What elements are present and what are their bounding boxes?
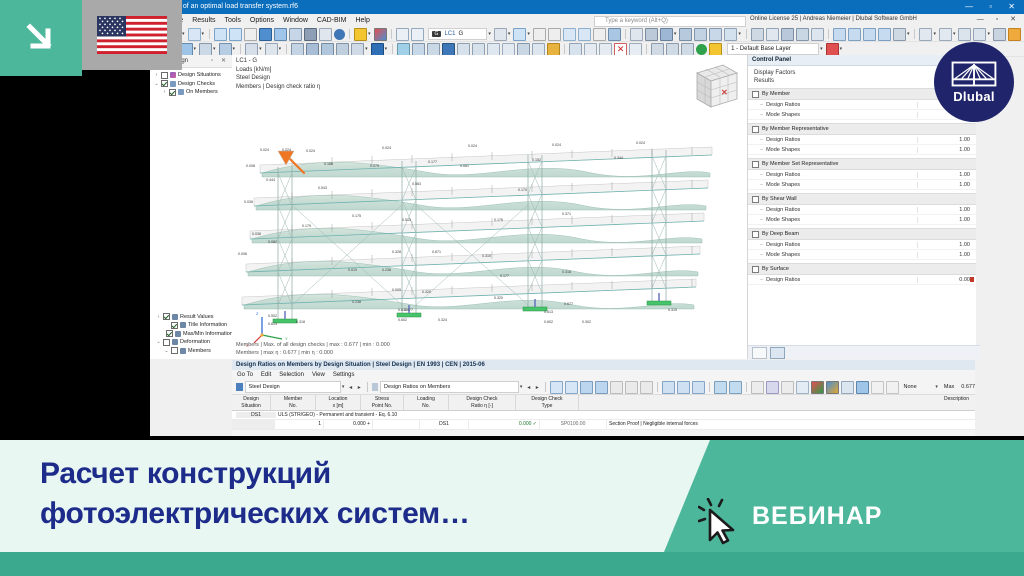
checkbox[interactable] bbox=[752, 196, 759, 203]
search-table-icon[interactable] bbox=[766, 381, 779, 394]
rfem-application-window: ...nation of an optimal load transfer sy… bbox=[150, 0, 1024, 436]
col-line1: Design Check bbox=[466, 396, 497, 402]
loadcase-icon[interactable] bbox=[709, 28, 722, 41]
svg-text:0.318: 0.318 bbox=[296, 320, 305, 324]
grid-header-row: Design Situation Member No. Location x [… bbox=[232, 395, 975, 411]
find-icon[interactable] bbox=[781, 381, 794, 394]
col-design-check-type[interactable]: Design Check Type bbox=[516, 395, 579, 410]
refresh-icon[interactable] bbox=[334, 29, 345, 40]
toolbar-separator bbox=[545, 382, 546, 392]
cp-group-by-shear-wall[interactable]: By Shear Wall bbox=[748, 193, 976, 205]
home-view-icon[interactable] bbox=[752, 347, 767, 359]
checkbox[interactable] bbox=[752, 91, 759, 98]
tree-item-label: Title Information bbox=[188, 322, 227, 328]
resultvalues-icon[interactable] bbox=[878, 28, 891, 41]
cp-row-label: –Mode Shapes bbox=[760, 147, 917, 153]
cp-row-value[interactable]: 0.00 bbox=[917, 277, 976, 283]
rigid-link-icon[interactable] bbox=[351, 43, 364, 56]
layer-flag-icon[interactable] bbox=[826, 43, 839, 56]
cp-row-mode-shapes[interactable]: –Mode Shapes 1.00 bbox=[748, 180, 976, 190]
rotate-object-icon[interactable] bbox=[599, 43, 612, 56]
base-layer-value: 1 - Default Base Layer bbox=[731, 46, 791, 52]
compare-icon[interactable] bbox=[841, 381, 854, 394]
checkbox[interactable] bbox=[171, 322, 178, 329]
svg-text:0.318: 0.318 bbox=[562, 270, 571, 274]
col-stress-point[interactable]: Stress Point No. bbox=[361, 395, 404, 410]
cell-location[interactable]: 0.000 + bbox=[324, 420, 373, 429]
module-chevron-down-icon[interactable]: ▾ bbox=[342, 384, 345, 390]
measure-icon[interactable] bbox=[593, 28, 606, 41]
clipboard-icon[interactable] bbox=[319, 28, 332, 41]
zoom-dropdown-icon[interactable]: ▾ bbox=[953, 31, 956, 37]
cp-row-value[interactable]: 1.00 bbox=[917, 172, 976, 178]
menu-item-results[interactable]: Results bbox=[192, 17, 215, 24]
svg-text:0.152: 0.152 bbox=[532, 158, 541, 162]
panel-split-icon[interactable] bbox=[244, 28, 257, 41]
result-prev-icon[interactable]: ◂ bbox=[525, 384, 532, 391]
member-icon[interactable] bbox=[645, 28, 658, 41]
checkbox[interactable] bbox=[752, 266, 759, 273]
load-case-prev-icon[interactable] bbox=[396, 28, 409, 41]
redo-dropdown-icon[interactable]: ▾ bbox=[202, 31, 205, 37]
col-line1: Member bbox=[284, 396, 302, 402]
filter-active-icon[interactable] bbox=[856, 381, 869, 394]
toolbar-separator bbox=[828, 29, 829, 39]
table-menu-goto[interactable]: Go To bbox=[237, 372, 253, 378]
menu-item-options[interactable]: Options bbox=[250, 17, 274, 24]
col-line1: Design bbox=[243, 396, 259, 402]
cp-group-by-member-representative[interactable]: By Member Representative bbox=[748, 123, 976, 135]
cp-row-label: –Design Ratios bbox=[760, 137, 917, 143]
free-load-icon[interactable] bbox=[457, 43, 470, 56]
cp-row-value[interactable]: 1.00 bbox=[917, 137, 976, 143]
cp-row-label: –Design Ratios bbox=[760, 102, 917, 108]
load-case-chevron-down-icon[interactable]: ▾ bbox=[488, 31, 491, 37]
3d-viewport[interactable]: LC1 - G Loads [kN/m] Steel Design Member… bbox=[232, 55, 747, 359]
tree-item-maxmin-information[interactable]: Max/Min Information bbox=[154, 330, 232, 339]
cp-group-label: By Member Representative bbox=[762, 126, 829, 132]
cp-row-value[interactable]: 1.00 bbox=[917, 182, 976, 188]
cp-row-mode-shapes[interactable]: –Mode Shapes 1.00 bbox=[748, 215, 976, 225]
attachment-icon[interactable] bbox=[304, 28, 317, 41]
svg-text:0.613: 0.613 bbox=[544, 310, 553, 314]
spinner-marker-icon[interactable] bbox=[970, 277, 974, 282]
cp-row-design-ratios[interactable]: –Design Ratios 1.00 bbox=[748, 205, 976, 215]
menu-item-help[interactable]: Help bbox=[355, 17, 369, 24]
surface-load-icon[interactable] bbox=[442, 43, 455, 56]
cp-row-mode-shapes[interactable]: –Mode Shapes 1.00 bbox=[748, 110, 976, 120]
menu-item-cadbim[interactable]: CAD-BIM bbox=[317, 17, 347, 24]
render-icon[interactable] bbox=[354, 28, 367, 41]
svg-text:0.024: 0.024 bbox=[382, 146, 391, 150]
snap-icon[interactable] bbox=[563, 28, 576, 41]
cp-row-value[interactable]: 1.00 bbox=[917, 217, 976, 223]
paint-icon[interactable] bbox=[893, 28, 906, 41]
new-surface-icon[interactable] bbox=[219, 43, 232, 56]
new-solid-icon[interactable] bbox=[245, 43, 258, 56]
cp-row-value[interactable]: 1.00 bbox=[917, 242, 976, 248]
report-icon[interactable] bbox=[796, 28, 809, 41]
checkbox[interactable] bbox=[163, 313, 170, 320]
printout-report3-icon[interactable] bbox=[681, 43, 694, 56]
cp-group-label: By Member bbox=[762, 91, 790, 97]
navigation-cube-icon[interactable]: ✕ bbox=[687, 59, 741, 115]
tree-item-result-values[interactable]: › Result Values bbox=[154, 313, 232, 322]
combination-icon[interactable] bbox=[724, 28, 737, 41]
rotate-icon[interactable] bbox=[958, 28, 971, 41]
cp-row-text: Mode Shapes bbox=[766, 182, 800, 188]
bounding-box-icon[interactable] bbox=[629, 43, 642, 56]
cell-design-check-type[interactable]: SP0100.00 bbox=[540, 420, 607, 429]
svg-text:0.036: 0.036 bbox=[244, 200, 253, 204]
export-icon[interactable] bbox=[811, 28, 824, 41]
export-table-icon[interactable] bbox=[662, 381, 675, 394]
perspective-dropdown-icon[interactable]: ▾ bbox=[987, 31, 990, 37]
solid-icon[interactable] bbox=[694, 28, 707, 41]
module-prev-icon[interactable]: ◂ bbox=[347, 384, 354, 391]
table-menu-selection[interactable]: Selection bbox=[279, 372, 304, 378]
member-load-icon[interactable] bbox=[427, 43, 440, 56]
col-line1: Description bbox=[944, 396, 969, 402]
cp-group-by-surface[interactable]: By Surface bbox=[748, 263, 976, 275]
toolbar-separator bbox=[914, 29, 915, 39]
tree-item-on-members[interactable]: › On Members bbox=[152, 88, 232, 97]
panel-grid-icon[interactable] bbox=[229, 28, 242, 41]
chart2-table-icon[interactable] bbox=[692, 381, 705, 394]
wind-load-icon[interactable] bbox=[502, 43, 515, 56]
chart-table-icon[interactable] bbox=[677, 381, 690, 394]
paint-dropdown-icon[interactable]: ▾ bbox=[907, 31, 910, 37]
group-text: ULS (STR/GEO) - Permanent and transient … bbox=[278, 412, 397, 418]
checkbox[interactable] bbox=[752, 161, 759, 168]
sort-table-icon[interactable] bbox=[595, 381, 608, 394]
imperfection-icon[interactable] bbox=[472, 43, 485, 56]
cp-row-text: Design Ratios bbox=[766, 242, 800, 248]
tree-item-label: Result Values bbox=[180, 314, 214, 320]
toolbar-separator bbox=[392, 44, 393, 54]
col-loading-no[interactable]: Loading No. bbox=[404, 395, 449, 410]
lasso-icon[interactable] bbox=[548, 28, 561, 41]
toolbar-separator bbox=[746, 29, 747, 39]
cp-group-by-deep-beam[interactable]: By Deep Beam bbox=[748, 228, 976, 240]
tree-item-design-situations[interactable]: › Design Situations bbox=[152, 71, 232, 80]
resultdiagram-icon[interactable] bbox=[863, 28, 876, 41]
visibility-icon[interactable] bbox=[494, 28, 507, 41]
render-dropdown-icon[interactable]: ▾ bbox=[368, 31, 371, 37]
table-menu-edit[interactable]: Edit bbox=[261, 372, 271, 378]
table-menu-settings[interactable]: Settings bbox=[333, 372, 355, 378]
license-info: Online License 25 | Andreas Niemeier | D… bbox=[750, 16, 917, 22]
panel-left-icon[interactable] bbox=[214, 28, 227, 41]
load-case-chip: G bbox=[432, 31, 442, 37]
control-panel-footer bbox=[748, 345, 980, 359]
module-next-icon[interactable]: ▸ bbox=[356, 384, 363, 391]
menu-item-window[interactable]: Window bbox=[283, 17, 308, 24]
svg-text:0.324: 0.324 bbox=[438, 318, 447, 322]
cp-row-mode-shapes[interactable]: –Mode Shapes 1.00 bbox=[748, 250, 976, 260]
select-icon[interactable] bbox=[533, 28, 546, 41]
cp-row-text: Mode Shapes bbox=[766, 112, 800, 118]
result-type-chevron-down-icon[interactable]: ▾ bbox=[520, 384, 523, 390]
line-support-icon[interactable] bbox=[306, 43, 319, 56]
screenshot-root: ...nation of an optimal load transfer sy… bbox=[0, 0, 1024, 576]
checkbox[interactable] bbox=[161, 72, 168, 79]
svg-text:0.079: 0.079 bbox=[370, 164, 379, 168]
combination-wizard-icon[interactable] bbox=[517, 43, 530, 56]
copy-object-icon[interactable] bbox=[569, 43, 582, 56]
module-combo[interactable]: Steel Design bbox=[245, 381, 341, 393]
members-icon bbox=[180, 348, 186, 354]
cp-group-label: By Member Set Representative bbox=[762, 161, 838, 167]
col-design-situation[interactable]: Design Situation bbox=[232, 395, 271, 410]
mirror-icon[interactable] bbox=[584, 43, 597, 56]
results-icon[interactable] bbox=[781, 28, 794, 41]
svg-text:0.563: 0.563 bbox=[412, 182, 421, 186]
menu-bar: Calculate Results Tools Options Window C… bbox=[150, 14, 1024, 27]
col-line2: Type bbox=[542, 403, 553, 409]
toolbar-separator bbox=[564, 44, 565, 54]
combination-dropdown-icon[interactable]: ▾ bbox=[738, 31, 741, 37]
expander-icon[interactable]: ⌄ bbox=[164, 348, 169, 354]
cp-group-by-member-set-representative[interactable]: By Member Set Representative bbox=[748, 158, 976, 170]
svg-text:0.082: 0.082 bbox=[268, 240, 277, 244]
cp-row-design-ratios[interactable]: –Design Ratios 1.00 bbox=[748, 240, 976, 250]
cp-row-text: Mode Shapes bbox=[766, 217, 800, 223]
col-line2: No. bbox=[289, 403, 297, 409]
cp-row-text: Mode Shapes bbox=[766, 147, 800, 153]
table-row[interactable]: 1 0.000 + DS1 0.000 ✓ SP0100.00 Section … bbox=[232, 420, 975, 430]
tree-item-label: Design Checks bbox=[178, 81, 215, 87]
cell-ratio[interactable]: 0.000 ✓ bbox=[469, 420, 540, 429]
window-titlebar: ...nation of an optimal load transfer sy… bbox=[150, 0, 1024, 14]
stamp-icon[interactable] bbox=[547, 43, 560, 56]
group-design-situation: DS1 bbox=[236, 412, 276, 418]
svg-text:0.061: 0.061 bbox=[460, 164, 469, 168]
svg-text:0.344: 0.344 bbox=[614, 156, 623, 160]
delete-icon[interactable]: ✕ bbox=[614, 43, 627, 56]
base-layer-chevron-down-icon[interactable]: ▾ bbox=[820, 46, 823, 52]
redo-icon[interactable] bbox=[188, 28, 201, 41]
zoom-in-table-icon[interactable] bbox=[550, 381, 563, 394]
member-hinge-icon[interactable] bbox=[321, 43, 334, 56]
colors-icon[interactable] bbox=[374, 28, 387, 41]
col-line2: Point No. bbox=[372, 403, 393, 409]
snow-load-icon[interactable] bbox=[487, 43, 500, 56]
structure-model-graphic: 0.0240.0240.024 0.0240.0240.024 0.024 0.… bbox=[232, 55, 747, 359]
svg-text:0.310: 0.310 bbox=[482, 254, 491, 258]
table-merge-icon[interactable] bbox=[625, 381, 638, 394]
design-situation-icon bbox=[170, 72, 176, 78]
banner-title: Расчет конструкций фотоэлектрических сис… bbox=[40, 454, 470, 534]
cp-row-text: Design Ratios bbox=[766, 102, 800, 108]
cp-row-text: Design Ratios bbox=[766, 207, 800, 213]
svg-text:0.371: 0.371 bbox=[562, 212, 571, 216]
tree-item-design-checks[interactable]: ⌄ Design Checks bbox=[152, 80, 232, 89]
cp-row-design-ratios[interactable]: –Design Ratios 0.00 bbox=[748, 275, 976, 285]
new-opening-dropdown-icon[interactable]: ▾ bbox=[279, 46, 282, 52]
svg-text:Z: Z bbox=[256, 311, 259, 316]
lighting-icon[interactable] bbox=[993, 28, 1006, 41]
window-controls[interactable]: — ▫ ✕ bbox=[965, 0, 1022, 14]
new-member-icon[interactable] bbox=[199, 43, 212, 56]
printout-report-icon[interactable] bbox=[651, 43, 664, 56]
cp-row-value[interactable]: 1.00 bbox=[917, 147, 976, 153]
filter-table-icon[interactable] bbox=[580, 381, 593, 394]
nodal-release-icon[interactable] bbox=[371, 43, 384, 56]
cp-row-value[interactable]: 1.00 bbox=[917, 252, 976, 258]
layer-flag-dropdown-icon[interactable]: ▾ bbox=[840, 46, 843, 52]
col-location[interactable]: Location x [m] bbox=[316, 395, 361, 410]
expander-icon[interactable]: › bbox=[154, 72, 159, 78]
expander-icon[interactable]: › bbox=[156, 314, 161, 320]
cp-row-design-ratios[interactable]: –Design Ratios 1.00 bbox=[748, 170, 976, 180]
new-member-dropdown-icon[interactable]: ▾ bbox=[213, 46, 216, 52]
result-next-icon[interactable]: ▸ bbox=[534, 384, 541, 391]
cp-row-label: –Design Ratios bbox=[760, 172, 917, 178]
node-icon[interactable] bbox=[630, 28, 643, 41]
col-line1: Location bbox=[329, 396, 348, 402]
new-surface-dropdown-icon[interactable]: ▾ bbox=[233, 46, 236, 52]
navigator-tree-bottom: › Result Values Title Information Max/Mi… bbox=[152, 310, 232, 356]
col-design-check-ratio[interactable]: Design Check Ratio η [-] bbox=[449, 395, 516, 410]
zoom-out-table-icon[interactable] bbox=[565, 381, 578, 394]
filter-reset-icon[interactable] bbox=[886, 381, 899, 394]
search-input[interactable]: Type a keyword (Alt+Q) bbox=[594, 16, 746, 27]
surface-support-icon[interactable] bbox=[336, 43, 349, 56]
grid-group-row[interactable]: DS1 ULS (STR/GEO) - Permanent and transi… bbox=[232, 411, 975, 420]
svg-text:0.602: 0.602 bbox=[398, 318, 407, 322]
print-icon[interactable] bbox=[289, 28, 302, 41]
table-icon[interactable] bbox=[259, 28, 272, 41]
expander-icon[interactable]: ⌄ bbox=[154, 81, 159, 87]
toolbar-separator bbox=[349, 29, 350, 39]
support-icon[interactable] bbox=[679, 28, 692, 41]
cp-row-mode-shapes[interactable]: –Mode Shapes 1.00 bbox=[748, 145, 976, 155]
col-member-no[interactable]: Member No. bbox=[271, 395, 316, 410]
nodal-support-icon[interactable] bbox=[291, 43, 304, 56]
view-dropdown-icon[interactable]: ▾ bbox=[933, 31, 936, 37]
columns-icon[interactable] bbox=[833, 28, 846, 41]
filter-none-chevron-down-icon[interactable]: ▾ bbox=[935, 384, 938, 390]
cell-loading-no[interactable]: DS1 bbox=[420, 420, 469, 429]
tree-item-members[interactable]: ⌄ Members bbox=[154, 347, 232, 356]
color-legend2-icon[interactable] bbox=[826, 381, 839, 394]
panel-settings-icon[interactable] bbox=[770, 347, 785, 359]
surface-dropdown-icon[interactable]: ▾ bbox=[674, 31, 677, 37]
perspective-icon[interactable] bbox=[973, 28, 986, 41]
load-case-combo[interactable]: G LC1 G bbox=[428, 28, 488, 40]
zoom-icon[interactable] bbox=[939, 28, 952, 41]
view-icon[interactable] bbox=[919, 28, 932, 41]
load-case-next-icon[interactable] bbox=[411, 28, 424, 41]
result-type-combo[interactable]: Design Ratios on Members bbox=[380, 381, 519, 393]
svg-text:0.008: 0.008 bbox=[246, 164, 255, 168]
filter-clear-icon[interactable] bbox=[871, 381, 884, 394]
checkbox[interactable] bbox=[752, 231, 759, 238]
checkbox[interactable] bbox=[171, 347, 178, 354]
expander-icon[interactable]: ⌄ bbox=[156, 339, 161, 345]
sortaz-icon[interactable] bbox=[796, 381, 809, 394]
menu-item-tools[interactable]: Tools bbox=[225, 17, 241, 24]
checkbox[interactable] bbox=[166, 330, 173, 337]
table-view-icon[interactable] bbox=[610, 381, 623, 394]
nodal-release-dropdown-icon[interactable]: ▾ bbox=[385, 46, 388, 52]
calculate-icon[interactable] bbox=[751, 28, 764, 41]
nodal-load-icon[interactable] bbox=[397, 43, 410, 56]
new-solid-dropdown-icon[interactable]: ▾ bbox=[259, 46, 262, 52]
line-load-icon[interactable] bbox=[412, 43, 425, 56]
table-toolbar: Steel Design ▾ ◂ ▸ Design Ratios on Memb… bbox=[232, 380, 975, 395]
table-menu-view[interactable]: View bbox=[312, 372, 325, 378]
svg-text:0.177: 0.177 bbox=[428, 160, 437, 164]
dimension-icon[interactable] bbox=[608, 28, 621, 41]
layer-visible-icon[interactable] bbox=[696, 44, 707, 55]
checkbox[interactable] bbox=[163, 339, 170, 346]
cell-description[interactable]: Section Proof | Negligible internal forc… bbox=[607, 420, 975, 429]
filter-icon[interactable] bbox=[513, 28, 526, 41]
expander-icon[interactable]: › bbox=[162, 89, 167, 95]
cp-row-label: –Design Ratios bbox=[760, 277, 917, 283]
printout-report2-icon[interactable] bbox=[666, 43, 679, 56]
base-layer-combo[interactable]: 1 - Default Base Layer bbox=[727, 43, 819, 55]
cp-row-value[interactable]: 1.00 bbox=[917, 207, 976, 213]
svg-text:0.024: 0.024 bbox=[306, 149, 315, 153]
color-legend-icon[interactable] bbox=[811, 381, 824, 394]
col-description[interactable]: Description bbox=[579, 395, 975, 410]
printout-icon[interactable] bbox=[274, 28, 287, 41]
undo-dropdown-icon[interactable]: ▾ bbox=[182, 31, 185, 37]
banner-badge-text: ВЕБИНАР bbox=[752, 502, 882, 531]
filter-dropdown-icon[interactable]: ▾ bbox=[527, 31, 530, 37]
svg-text:0.302: 0.302 bbox=[582, 320, 591, 324]
grid-toggle-icon[interactable] bbox=[729, 381, 742, 394]
table-split-icon[interactable] bbox=[640, 381, 653, 394]
cp-row-text: Design Ratios bbox=[766, 172, 800, 178]
stop-calc-icon[interactable] bbox=[766, 28, 779, 41]
grid-snap-icon[interactable] bbox=[578, 28, 591, 41]
checkbox[interactable] bbox=[169, 89, 176, 96]
toolbar-row-1: ▾ ▾ ▾ G LC1 G ▾ ▾ ▾ bbox=[150, 27, 1024, 42]
click-cursor-icon bbox=[698, 498, 744, 546]
banner-title-line-1: Расчет конструкций bbox=[40, 454, 470, 494]
checkbox[interactable] bbox=[161, 80, 168, 87]
rows-icon[interactable] bbox=[848, 28, 861, 41]
tree-item-label: On Members bbox=[186, 89, 218, 95]
tree-item-deformation[interactable]: ⌄ Deformation bbox=[154, 338, 232, 347]
tree-item-title-information[interactable]: Title Information bbox=[154, 321, 232, 330]
svg-text:0.176: 0.176 bbox=[494, 218, 503, 222]
angle-icon[interactable] bbox=[532, 43, 545, 56]
layer-locked-icon[interactable] bbox=[709, 43, 722, 56]
highlight-icon[interactable] bbox=[714, 381, 727, 394]
new-opening-icon[interactable] bbox=[265, 43, 278, 56]
visibility-dropdown-icon[interactable]: ▾ bbox=[508, 31, 511, 37]
navigator-pin-close-icons[interactable]: ▫ ✕ bbox=[211, 55, 229, 67]
toolbar-separator bbox=[391, 29, 392, 39]
surface-icon[interactable] bbox=[660, 28, 673, 41]
filter-none-label[interactable]: None bbox=[901, 382, 935, 392]
rigid-link-dropdown-icon[interactable]: ▾ bbox=[365, 46, 368, 52]
cp-row-design-ratios[interactable]: –Design Ratios 1.00 bbox=[748, 135, 976, 145]
cell-member-no[interactable]: 1 bbox=[275, 420, 324, 429]
mdi-window-controls[interactable]: — ▫ ✕ bbox=[977, 15, 1021, 23]
checkbox[interactable] bbox=[752, 126, 759, 133]
folder-icon[interactable] bbox=[1008, 28, 1021, 41]
cell-stress-point[interactable] bbox=[373, 420, 420, 429]
new-line-dropdown-icon[interactable]: ▾ bbox=[194, 46, 197, 52]
pointer-icon[interactable] bbox=[751, 381, 764, 394]
results-grid[interactable]: Design Situation Member No. Location x [… bbox=[232, 395, 975, 430]
